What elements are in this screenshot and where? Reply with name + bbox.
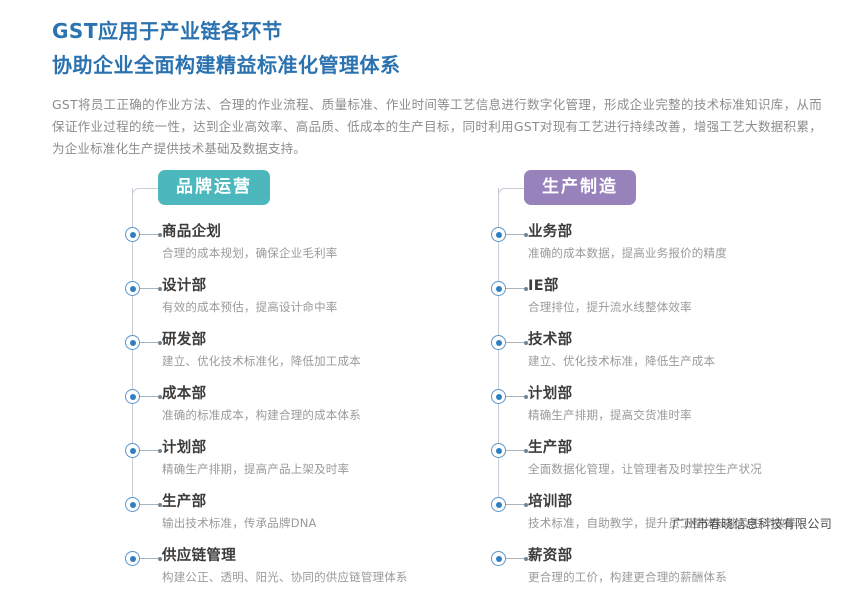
timeline-dot-icon [125,281,140,296]
list-item-desc: 精确生产排期，提高交货准时率 [528,407,800,423]
list-item[interactable]: 研发部 建立、优化技术标准化，降低加工成本 [124,330,434,384]
page-header: GST应用于产业链各环节 协助企业全面构建精益标准化管理体系 [0,0,850,80]
timeline-connector-icon [140,504,158,505]
column-badge-production-manufacturing[interactable]: 生产制造 [524,170,636,205]
list-item[interactable]: 商品企划 合理的成本规划，确保企业毛利率 [124,222,434,276]
list-item[interactable]: IE部 合理排位，提升流水线整体效率 [490,276,800,330]
list-item-title: 成本部 [162,384,434,404]
timeline-dot-icon [125,497,140,512]
list-item-desc: 合理的成本规划，确保企业毛利率 [162,245,434,261]
list-item-title: 供应链管理 [162,546,434,566]
list-item-desc: 全面数据化管理，让管理者及时掌控生产状况 [528,461,800,477]
list-item-title: 生产部 [528,438,800,458]
list-item-desc: 准确的成本数据，提高业务报价的精度 [528,245,800,261]
intro-paragraph: GST将员工正确的作业方法、合理的作业流程、质量标准、作业时间等工艺信息进行数字… [52,94,822,160]
timeline-connector-icon [140,396,158,397]
list-item-desc: 构建公正、透明、阳光、协同的供应链管理体系 [162,569,434,585]
list-item[interactable]: 计划部 精确生产排期，提高产品上架及时率 [124,438,434,492]
list-item[interactable]: 薪资部 更合理的工价，构建更合理的薪酬体系 [490,546,800,600]
list-item-desc: 更合理的工价，构建更合理的薪酬体系 [528,569,800,585]
columns-container: 品牌运营 商品企划 合理的成本规划，确保企业毛利率 设计部 有效的成本预估，提高… [0,170,850,600]
timeline-dot-icon [125,227,140,242]
list-item[interactable]: 供应链管理 构建公正、透明、阳光、协同的供应链管理体系 [124,546,434,600]
timeline-connector-icon [506,396,524,397]
list-item-title: 计划部 [528,384,800,404]
list-item-title: IE部 [528,276,800,296]
column-badge-brand-operations[interactable]: 品牌运营 [158,170,270,205]
timeline-connector-icon [140,558,158,559]
timeline-elbow [132,188,158,200]
list-item-desc: 精确生产排期，提高产品上架及时率 [162,461,434,477]
timeline-dot-icon [491,443,506,458]
list-item-title: 业务部 [528,222,800,242]
list-item-desc: 建立、优化技术标准，降低生产成本 [528,353,800,369]
list-item-title: 技术部 [528,330,800,350]
list-item[interactable]: 计划部 精确生产排期，提高交货准时率 [490,384,800,438]
list-item-desc: 输出技术标准，传承品牌DNA [162,515,434,531]
timeline-connector-icon [506,342,524,343]
timeline-dot-icon [125,389,140,404]
list-item-title: 计划部 [162,438,434,458]
timeline-dot-icon [491,227,506,242]
list-item[interactable]: 业务部 准确的成本数据，提高业务报价的精度 [490,222,800,276]
column-production-manufacturing: 生产制造 业务部 准确的成本数据，提高业务报价的精度 IE部 合理排位，提升流水… [490,170,800,600]
timeline-dot-icon [491,335,506,350]
list-item-desc: 有效的成本预估，提高设计命中率 [162,299,434,315]
item-list-production-manufacturing: 业务部 准确的成本数据，提高业务报价的精度 IE部 合理排位，提升流水线整体效率… [490,222,800,600]
list-item-title: 研发部 [162,330,434,350]
page-title-line1: GST应用于产业链各环节 [52,16,798,46]
list-item-desc: 建立、优化技术标准化，降低加工成本 [162,353,434,369]
timeline-connector-icon [140,288,158,289]
timeline-dot-icon [491,551,506,566]
timeline-connector-icon [140,450,158,451]
list-item[interactable]: 技术部 建立、优化技术标准，降低生产成本 [490,330,800,384]
list-item-title: 薪资部 [528,546,800,566]
list-item-desc: 准确的标准成本，构建合理的成本体系 [162,407,434,423]
item-list-brand-operations: 商品企划 合理的成本规划，确保企业毛利率 设计部 有效的成本预估，提高设计命中率… [124,222,434,600]
page-title-line2: 协助企业全面构建精益标准化管理体系 [52,50,798,80]
timeline-dot-icon [491,281,506,296]
footer-company-name: 广州市春晓信息科技有限公司 [672,515,832,532]
timeline-connector-icon [506,504,524,505]
list-item-title: 设计部 [162,276,434,296]
timeline-connector-icon [506,558,524,559]
timeline-dot-icon [125,443,140,458]
list-item[interactable]: 生产部 全面数据化管理，让管理者及时掌控生产状况 [490,438,800,492]
timeline-connector-icon [506,234,524,235]
list-item[interactable]: 设计部 有效的成本预估，提高设计命中率 [124,276,434,330]
column-brand-operations: 品牌运营 商品企划 合理的成本规划，确保企业毛利率 设计部 有效的成本预估，提高… [124,170,434,600]
timeline-dot-icon [125,335,140,350]
timeline-dot-icon [125,551,140,566]
list-item[interactable]: 成本部 准确的标准成本，构建合理的成本体系 [124,384,434,438]
timeline-dot-icon [491,497,506,512]
timeline-connector-icon [506,288,524,289]
timeline-connector-icon [140,234,158,235]
list-item-title: 商品企划 [162,222,434,242]
timeline-elbow [498,188,524,200]
timeline-dot-icon [491,389,506,404]
timeline-connector-icon [506,450,524,451]
list-item-title: 生产部 [162,492,434,512]
timeline-connector-icon [140,342,158,343]
list-item-desc: 合理排位，提升流水线整体效率 [528,299,800,315]
list-item-title: 培训部 [528,492,800,512]
list-item[interactable]: 生产部 输出技术标准，传承品牌DNA [124,492,434,546]
